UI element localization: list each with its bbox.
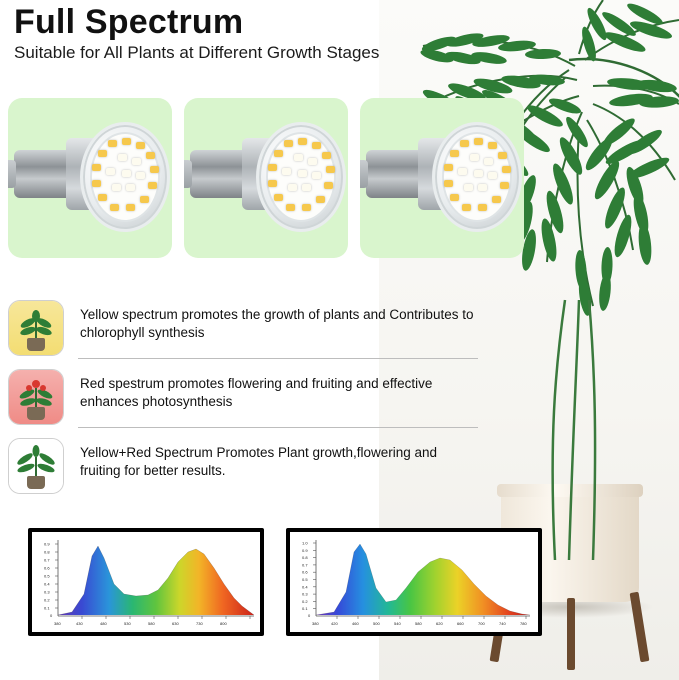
svg-text:420: 420 [331, 621, 338, 626]
spectrum-row-text: Yellow spectrum promotes the growth of p… [80, 300, 478, 342]
spectrum-chart-left-plot: 0.90.8 0.70.6 0.50.4 0.30.2 0.10 380430 … [32, 532, 260, 632]
svg-text:0: 0 [50, 613, 53, 618]
bulb-card-list [8, 98, 524, 258]
bulb-head [80, 122, 170, 232]
led-bulb-image [366, 120, 516, 232]
svg-text:0.1: 0.1 [44, 606, 50, 611]
svg-text:0.8: 0.8 [44, 550, 50, 555]
svg-text:800: 800 [220, 621, 227, 626]
svg-text:380: 380 [312, 621, 319, 626]
spectrum-row-text: Yellow+Red Spectrum Promotes Plant growt… [80, 438, 478, 480]
bulb-head [432, 122, 522, 232]
led-bulb-image [190, 120, 340, 232]
svg-text:740: 740 [499, 621, 506, 626]
svg-text:620: 620 [436, 621, 443, 626]
svg-text:660: 660 [457, 621, 464, 626]
svg-text:0.6: 0.6 [44, 566, 50, 571]
bulb-card-2 [184, 98, 348, 258]
spectrum-chart-left: 0.90.8 0.70.6 0.50.4 0.30.2 0.10 380430 … [28, 528, 264, 636]
svg-text:0.6: 0.6 [302, 570, 308, 575]
led-bulb-image [14, 120, 164, 232]
bulb-card-3 [360, 98, 524, 258]
svg-text:0.7: 0.7 [44, 558, 50, 563]
spectrum-chart-right: 1.00.9 0.80.7 0.60.5 0.40.3 0.20.1 0 380… [286, 528, 542, 636]
spectrum-row-yellow: Yellow spectrum promotes the growth of p… [8, 300, 478, 354]
svg-text:0.5: 0.5 [302, 577, 308, 582]
svg-text:0.2: 0.2 [44, 598, 50, 603]
svg-text:0.7: 0.7 [302, 562, 308, 567]
red-spectrum-plant-icon [8, 369, 64, 425]
svg-text:580: 580 [148, 621, 155, 626]
svg-text:480: 480 [100, 621, 107, 626]
led-disc [266, 132, 336, 222]
svg-text:780: 780 [520, 621, 527, 626]
svg-text:630: 630 [172, 621, 179, 626]
svg-text:0.9: 0.9 [302, 548, 308, 553]
svg-text:0.2: 0.2 [302, 599, 308, 604]
svg-text:500: 500 [373, 621, 380, 626]
svg-text:0.9: 0.9 [44, 542, 50, 547]
row-divider [78, 427, 478, 428]
svg-text:0.1: 0.1 [302, 606, 308, 611]
led-disc [90, 132, 160, 222]
bulb-card-1 [8, 98, 172, 258]
spectrum-row-text: Red spestrum promotes flowering and frui… [80, 369, 478, 411]
svg-text:540: 540 [394, 621, 401, 626]
svg-text:460: 460 [352, 621, 359, 626]
spectrum-charts: 0.90.8 0.70.6 0.50.4 0.30.2 0.10 380430 … [28, 528, 542, 636]
svg-text:0.3: 0.3 [302, 592, 308, 597]
svg-text:0.3: 0.3 [44, 590, 50, 595]
svg-text:0.5: 0.5 [44, 574, 50, 579]
svg-text:0.4: 0.4 [44, 582, 50, 587]
svg-text:430: 430 [76, 621, 83, 626]
led-disc [442, 132, 512, 222]
product-infographic: Full Spectrum Suitable for All Plants at… [0, 0, 679, 680]
full-spectrum-plant-icon [8, 438, 64, 494]
bulb-head [256, 122, 346, 232]
spectrum-chart-right-plot: 1.00.9 0.80.7 0.60.5 0.40.3 0.20.1 0 380… [290, 532, 538, 632]
svg-text:1.0: 1.0 [302, 541, 308, 546]
svg-text:730: 730 [196, 621, 203, 626]
svg-text:0.8: 0.8 [302, 555, 308, 560]
spectrum-row-list: Yellow spectrum promotes the growth of p… [8, 300, 478, 506]
yellow-spectrum-plant-icon [8, 300, 64, 356]
spectrum-row-full: Yellow+Red Spectrum Promotes Plant growt… [8, 438, 478, 492]
page-subtitle: Suitable for All Plants at Different Gro… [14, 42, 454, 64]
svg-text:530: 530 [124, 621, 131, 626]
spectrum-row-red: Red spestrum promotes flowering and frui… [8, 369, 478, 423]
page-title: Full Spectrum [14, 2, 243, 42]
svg-text:380: 380 [54, 621, 61, 626]
svg-text:700: 700 [478, 621, 485, 626]
svg-text:0.4: 0.4 [302, 584, 308, 589]
svg-text:0: 0 [308, 613, 311, 618]
svg-text:580: 580 [415, 621, 422, 626]
row-divider [78, 358, 478, 359]
